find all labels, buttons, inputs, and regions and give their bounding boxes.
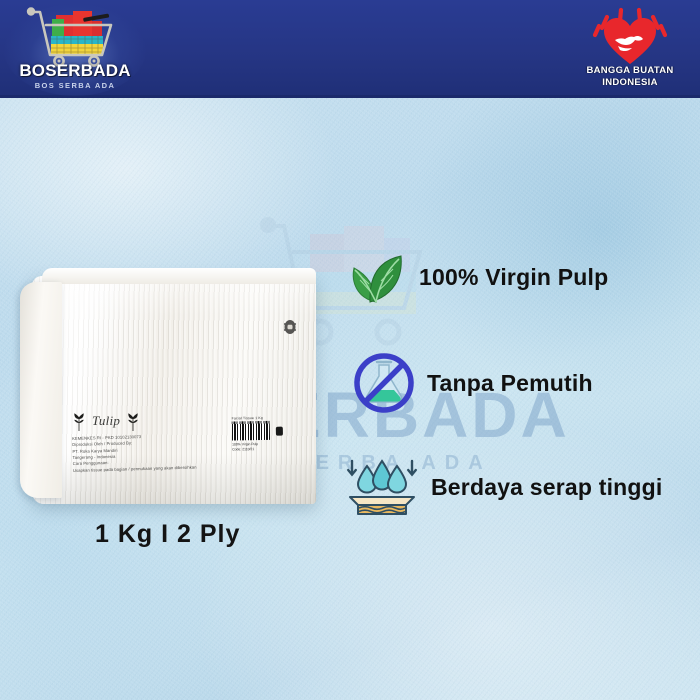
barcode-subtext: 100% Virgin Pulp Code: 2110/21: [232, 442, 288, 453]
shopping-cart-icon: [26, 5, 126, 67]
barcode-subtext-line: Code: 2110/21: [232, 447, 288, 453]
feature-high-absorption: Berdaya serap tinggi: [345, 457, 663, 517]
heart-indonesia-icon: [572, 4, 688, 66]
barcode-caption: Facial Tissue 1 Kg: [232, 416, 288, 421]
product-package-image: Tulip KEMENKES RI - PKD 10102130073 Dipr…: [20, 268, 316, 508]
package-print-mark-icon: [282, 318, 298, 336]
barcode-icon: [232, 421, 270, 441]
tulip-flower-icon: [72, 410, 86, 432]
package-label: Tulip KEMENKES RI - PKD 10102130073 Dipr…: [72, 408, 222, 474]
made-in-indonesia-line1: BANGGA BUATAN: [572, 65, 688, 76]
brand-name: BOSERBADA: [12, 61, 138, 81]
feature-no-bleach: Tanpa Pemutih: [353, 352, 593, 414]
brand-tagline: BOS SERBA ADA: [12, 81, 138, 90]
header-underline: [0, 95, 700, 98]
package-brand-name: Tulip: [92, 413, 120, 429]
no-bleach-icon: [353, 352, 415, 414]
brand-logo[interactable]: BOSERBADA BOS SERBA ADA: [12, 4, 138, 94]
package-brand-row: Tulip: [72, 408, 222, 434]
feature-label-virgin-pulp: 100% Virgin Pulp: [419, 264, 608, 291]
made-in-indonesia-line2: INDONESIA: [572, 77, 688, 88]
tulip-flower-icon-2: [126, 410, 140, 432]
package-left-fold: [20, 282, 62, 498]
weight-ply-caption: 1 Kg I 2 Ply: [95, 520, 240, 549]
water-absorption-icon: [345, 457, 419, 517]
feature-label-no-bleach: Tanpa Pemutih: [427, 370, 593, 397]
barcode-side-mark-icon: [276, 427, 283, 436]
feature-label-high-absorption: Berdaya serap tinggi: [431, 474, 663, 501]
product-banner: BOSERBADA BOS SERBA ADA Tulip: [0, 0, 700, 700]
made-in-indonesia-logo[interactable]: BANGGA BUATAN INDONESIA: [572, 4, 688, 94]
package-barcode-block: Facial Tissue 1 Kg 100% Virgin Pulp Code…: [232, 416, 289, 461]
green-leaves-icon: [345, 248, 407, 306]
package-top-fold: [42, 268, 316, 284]
feature-virgin-pulp: 100% Virgin Pulp: [345, 248, 608, 306]
package-fineprint: KEMENKES RI - PKD 10102130073 Diproduksi…: [72, 432, 223, 474]
